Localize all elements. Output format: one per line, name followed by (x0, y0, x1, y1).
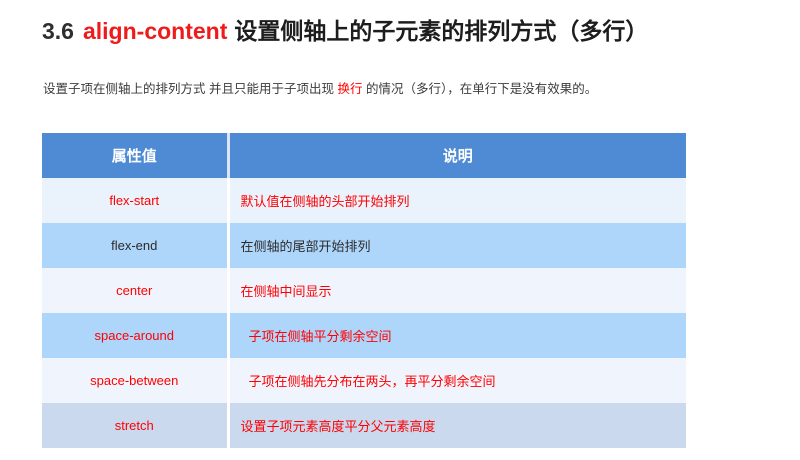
cell-property-value: space-between (42, 358, 228, 403)
column-header-description: 说明 (228, 133, 686, 178)
table-body: flex-start 默认值在侧轴的头部开始排列 flex-end 在侧轴的尾部… (42, 178, 686, 448)
cell-property-value: space-around (42, 313, 228, 358)
table-row: flex-end 在侧轴的尾部开始排列 (42, 223, 686, 268)
section-description: 设置侧轴上的子元素的排列方式（多行） (234, 18, 648, 44)
cell-property-value: stretch (42, 403, 228, 448)
table-header-row: 属性值 说明 (42, 133, 686, 178)
table-row: flex-start 默认值在侧轴的头部开始排列 (42, 178, 686, 223)
column-header-value: 属性值 (42, 133, 228, 178)
table-header: 属性值 说明 (42, 133, 686, 178)
cell-property-description: 设置子项元素高度平分父元素高度 (228, 403, 686, 448)
cell-property-description: 在侧轴的尾部开始排列 (228, 223, 686, 268)
subtitle-part-one: 设置子项在侧轴上的排列方式 并且只能用于子项出现 (43, 82, 337, 96)
table-row: space-between 子项在侧轴先分布在两头，再平分剩余空间 (42, 358, 686, 403)
table-row: stretch 设置子项元素高度平分父元素高度 (42, 403, 686, 448)
cell-property-description: 子项在侧轴先分布在两头，再平分剩余空间 (228, 358, 686, 403)
cell-property-value: flex-end (42, 223, 228, 268)
align-content-values-table: 属性值 说明 flex-start 默认值在侧轴的头部开始排列 flex-end… (42, 133, 686, 448)
subtitle-highlight: 换行 (337, 82, 362, 96)
cell-property-value: center (42, 268, 228, 313)
subtitle: 设置子项在侧轴上的排列方式 并且只能用于子项出现 换行 的情况（多行），在单行下… (43, 80, 783, 98)
cell-property-description: 默认值在侧轴的头部开始排列 (228, 178, 686, 223)
section-number: 3.6 (42, 18, 74, 44)
table-row: space-around 子项在侧轴平分剩余空间 (42, 313, 686, 358)
cell-property-value: flex-start (42, 178, 228, 223)
cell-property-description: 在侧轴中间显示 (228, 268, 686, 313)
table-row: center 在侧轴中间显示 (42, 268, 686, 313)
page-title: 3.6align-content设置侧轴上的子元素的排列方式（多行） (42, 16, 772, 46)
cell-property-description: 子项在侧轴平分剩余空间 (228, 313, 686, 358)
subtitle-part-two: 的情况（多行），在单行下是没有效果的。 (362, 82, 597, 96)
property-name: align-content (83, 18, 227, 44)
